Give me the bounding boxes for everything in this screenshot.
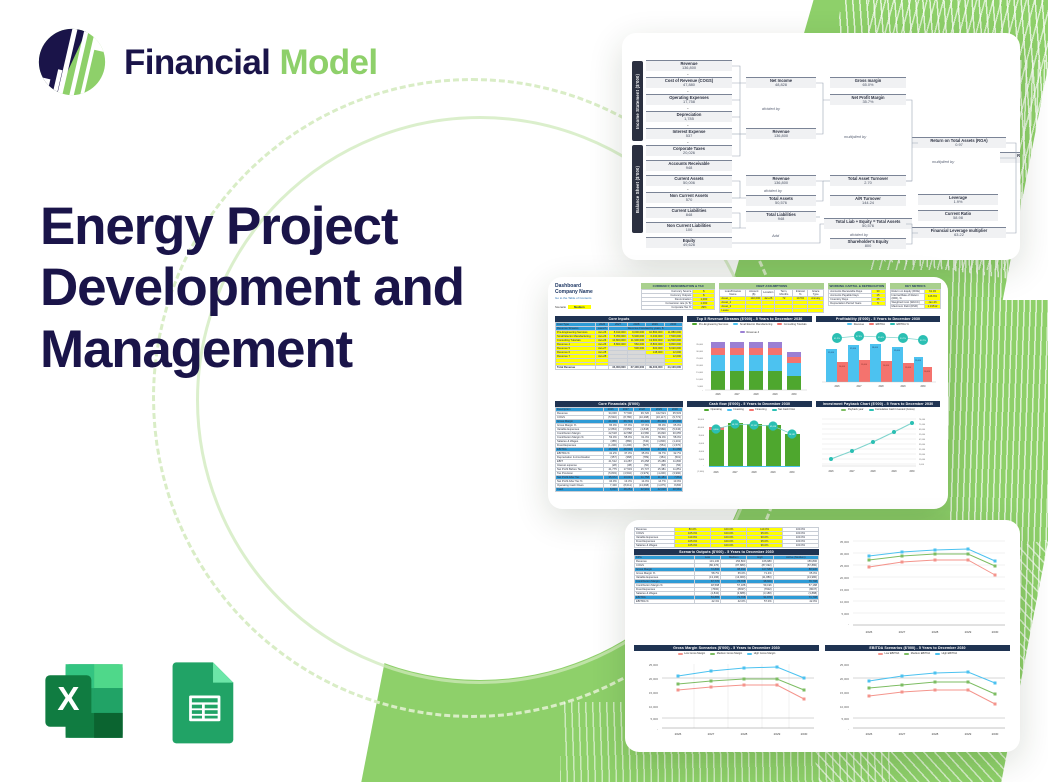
svg-text:-: - [657,727,658,731]
dashboard-header: Dashboard Company Name Go to the Table o… [555,283,941,313]
table-row: Cash8,80048,25132,90142,01848,581 [556,488,683,492]
svg-text:2028: 2028 [878,386,884,388]
svg-text:5,000: 5,000 [841,612,849,616]
svg-text:1,000: 1,000 [919,464,925,466]
svg-text:2029: 2029 [891,471,897,473]
scenario-row-bottom: Gross Margin Scenarios ($'000) - 5 Years… [634,645,1011,741]
svg-text:25,000: 25,000 [840,564,850,568]
legend-item: Revenue 4 [740,331,759,334]
svg-text:30,000: 30,000 [696,351,703,353]
svg-text:2030: 2030 [791,394,797,396]
svg-text:X: X [57,681,79,718]
svg-text:5,000: 5,000 [841,717,849,721]
svg-text:4,000: 4,000 [699,451,705,453]
svg-text:35.0%: 35.0% [878,337,884,339]
dashboard-row-2: Core Financials ($'000) Description20262… [555,401,941,492]
legend-item: EBITDA % [890,323,909,326]
legend-item: Cumulative Cash Invested (Gross) [869,408,915,411]
dashboard-row-1: Core Inputs Cost Type 2026 2027 2028 202… [555,316,941,398]
svg-text:30,000: 30,000 [840,552,850,556]
scenario-label: Scenario [555,305,566,309]
table-header-row: Loan/Finance Name Amount ($) Location Te… [720,289,824,296]
left-content-panel: Financial Model Energy Project Developme… [0,0,500,782]
svg-text:2026: 2026 [866,630,873,634]
brand-name-part1: Financial [124,43,270,82]
legend-item: Medium EBITDA [904,652,930,655]
legend-item: Low Gross Margin [678,652,706,655]
svg-text:2028: 2028 [741,732,748,736]
pie-chart-circle-logo-icon [36,26,108,98]
legend-item: EBITDA [869,323,885,326]
legend-item: Operating [704,408,722,411]
svg-text:2026: 2026 [675,732,682,736]
svg-text:2030: 2030 [992,732,999,736]
svg-text:-: - [702,390,703,392]
svg-text:2030: 2030 [789,472,795,474]
scenario-inputs-block: Revenue80.0%100.0%110.0%100.0% COGS105.0… [634,527,819,641]
svg-text:2026: 2026 [866,732,873,736]
svg-text:8,000: 8,000 [699,435,705,437]
svg-text:2028: 2028 [753,394,759,396]
svg-text:15,000: 15,000 [840,588,850,592]
brand-logo: Financial Model [36,26,378,98]
svg-text:2030: 2030 [920,386,926,388]
svg-text:74,000: 74,000 [919,419,926,421]
legend-item: Low EBITDA [878,652,899,655]
svg-text:25,000: 25,000 [696,358,703,360]
svg-text:(2,000): (2,000) [697,471,704,473]
svg-text:28,581: 28,581 [789,434,796,436]
svg-text:25,000: 25,000 [915,360,921,362]
table-row: Accounts Payable Days15 [829,293,885,297]
svg-text:2030: 2030 [992,630,999,634]
legend-item: Net Cash Flow [772,408,796,411]
svg-text:2030: 2030 [909,471,915,473]
screenshot-card-scenario-outputs[interactable]: Revenue80.0%100.0%110.0%100.0% COGS105.0… [625,520,1020,752]
dupont-connectors [622,33,1020,260]
svg-text:2029: 2029 [770,472,776,474]
page-title: Energy Project Development and Managemen… [40,196,470,380]
svg-text:2029: 2029 [774,732,781,736]
legend-item: Consulting Tutorials [777,323,806,326]
svg-text:31,000: 31,000 [828,352,834,354]
svg-text:31,000: 31,000 [919,449,926,451]
svg-text:71,000: 71,000 [919,424,926,426]
core-financials-block: Core Financials ($'000) Description20262… [555,401,683,492]
screenshot-card-dupont-diagram[interactable]: Income Statement ($'000) Balance Sheet (… [622,33,1020,260]
svg-text:15,000: 15,000 [919,459,926,461]
svg-text:-: - [848,727,849,731]
table-total-row: Total Revenue 34,000,000 27,400,000 39,4… [556,366,683,370]
svg-text:2029: 2029 [900,386,906,388]
table-row: Salaries & Wages105.0%100.0%96.0%100.0% [635,544,819,548]
revenue-scenarios-chart: 35,00030,00025,000 20,00015,00010,000 5,… [825,531,1010,636]
ebitda-scenarios-chart: 25,00020,00015,000 10,0005,000- 20262027… [825,656,1010,736]
profitability-chart-block: Profitability ($'000) - 5 Years to Decem… [816,316,940,398]
revenue-streams-chart: 35,00030,000 25,00020,000 15,00010,000 5… [687,335,812,397]
svg-text:5,000: 5,000 [650,717,658,721]
legend-item: High EBITDA [935,652,957,655]
ebitda-scenarios-block: EBITDA Scenarios ($'000) - 5 Years to De… [825,645,1010,741]
table-row: Depreciation Period Years5 [829,301,885,305]
svg-text:2028: 2028 [751,472,757,474]
scenario-screenshot: Revenue80.0%100.0%110.0%100.0% COGS105.0… [625,520,1020,752]
svg-text:10,000: 10,000 [698,419,705,421]
working-capital-panel: WORKING CAPITAL & DEPRECIATION Accounts … [828,283,885,306]
svg-text:2026: 2026 [834,386,840,388]
legend-item: High Gross Margin [747,652,775,655]
cash-flow-chart-block: Cash flow ($'000) - 5 Years to December … [687,401,812,492]
svg-text:37.3%: 37.3% [856,336,862,338]
svg-text:32.7%: 32.7% [920,340,926,342]
svg-text:42,018: 42,018 [770,426,777,428]
svg-text:-: - [703,465,704,467]
table-row: Weighted Cost (WACC)Jan-26 [890,300,941,304]
brand-name: Financial Model [124,45,378,80]
svg-text:2,000: 2,000 [699,459,705,461]
legend-item: Revenue [847,323,864,326]
svg-text:10,000: 10,000 [696,379,703,381]
svg-text:47,000: 47,000 [919,439,926,441]
metrics-table: Return on Equity (ROE)61.03 Internal Rat… [890,289,942,309]
dashboard-title-block: Dashboard Company Name Go to the Table o… [555,283,637,309]
svg-text:2027: 2027 [732,472,738,474]
scenario-value[interactable]: Medium [568,305,591,309]
svg-text:25,000: 25,000 [840,663,850,667]
svg-text:2027: 2027 [849,471,855,473]
svg-text:2027: 2027 [708,732,715,736]
table-row: Corporate Tax %29% [642,305,715,309]
legend-item: Financing [749,408,767,411]
currency-panel: CURRENCY, DENOMINATION & TAX Currency So… [641,283,715,310]
dashboard-screenshot: Dashboard Company Name Go to the Table o… [548,277,948,509]
revenue-streams-legend: Pre-Engineering Services Small Electro M… [687,322,812,335]
svg-text:32,901: 32,901 [751,425,758,427]
svg-text:2027: 2027 [899,630,906,634]
svg-text:13,000: 13,000 [905,367,911,369]
svg-text:48,251: 48,251 [732,424,739,426]
svg-text:35,000: 35,000 [840,540,850,544]
screenshot-card-dashboard[interactable]: Dashboard Company Name Go to the Table o… [548,277,948,509]
svg-text:14,000: 14,000 [839,366,845,368]
cash-flow-chart: 10,00040,0008,000 6,0004,0002,000 -(2,00… [687,412,812,475]
svg-text:2027: 2027 [856,386,862,388]
legend-item: Investing [727,408,744,411]
svg-text:14,000: 14,000 [883,365,889,367]
scenario-outputs-table: KPIsLowMediumHighActive (Medium)Revenue1… [634,555,819,604]
svg-text:-: - [848,622,849,626]
svg-text:39,000: 39,000 [919,444,926,446]
svg-text:6,000: 6,000 [699,443,705,445]
revenue-scenarios-chart-block: 35,00030,00025,000 20,00015,00010,000 5,… [825,527,1010,641]
scenario-input-table: Revenue80.0%100.0%110.0%100.0% COGS105.0… [634,527,819,548]
key-metrics-panel: KEY METRICS Return on Equity (ROE)61.03 … [890,283,942,309]
legend-item: Payback year [841,408,863,411]
svg-text:2029: 2029 [965,732,972,736]
svg-text:15,000: 15,000 [861,364,867,366]
svg-text:2026: 2026 [828,471,834,473]
svg-text:2027: 2027 [899,732,906,736]
svg-text:20,000: 20,000 [696,365,703,367]
svg-text:20,000: 20,000 [649,677,659,681]
svg-text:41.2%: 41.2% [834,338,840,340]
svg-text:10,000: 10,000 [840,705,850,709]
svg-text:33.7%: 33.7% [900,338,906,340]
svg-text:10,000: 10,000 [840,600,850,604]
svg-text:2027: 2027 [734,394,740,396]
legend-item: Pre-Engineering Services [692,323,728,326]
svg-text:2026: 2026 [713,472,719,474]
currency-table: Currency Source$ Currency Outputs$ Denom… [641,289,715,310]
svg-text:2028: 2028 [870,471,876,473]
svg-text:40,000: 40,000 [698,427,705,429]
scenario-selector[interactable]: Scenario Medium [555,305,637,309]
svg-text:35,000: 35,000 [894,350,900,352]
revenue-streams-chart-block: Top 5 Revenue Streams ($'000) - 5 Years … [687,316,812,398]
svg-text:15,000: 15,000 [696,372,703,374]
table-row: EBITDA %42.1%42.0%57.0%42.0% [635,600,819,604]
svg-text:8,800: 8,800 [713,429,719,431]
legend-item: Small Electro Manufacturing [733,323,772,326]
svg-text:2029: 2029 [772,394,778,396]
google-sheets-icon [156,655,248,747]
svg-text:20,000: 20,000 [840,576,850,580]
svg-text:15,000: 15,000 [840,691,850,695]
table-row: Return on Equity (ROE)61.03 [890,289,941,293]
svg-text:25,000: 25,000 [649,663,659,667]
svg-text:5,000: 5,000 [698,386,704,388]
svg-text:63,000: 63,000 [919,429,926,431]
core-inputs-block: Core Inputs Cost Type 2026 2027 2028 202… [555,316,683,398]
table-row: Lease [720,308,824,312]
wc-panel-header: WORKING CAPITAL & DEPRECIATION [828,283,885,289]
svg-text:55,000: 55,000 [919,434,926,436]
scenario-row-top: Revenue80.0%100.0%110.0%100.0% COGS105.0… [634,527,1011,641]
gross-margin-scenarios-block: Gross Margin Scenarios ($'000) - 5 Years… [634,645,819,741]
brand-name-part2: Model [279,43,377,82]
debt-table: Loan/Finance Name Amount ($) Location Te… [719,289,824,313]
svg-text:10,000: 10,000 [924,371,930,373]
table-row: Accounts Receivable Days30 [829,289,885,293]
svg-text:23,000: 23,000 [919,454,926,456]
app-icons-row: X [38,655,248,747]
svg-text:2026: 2026 [715,394,721,396]
svg-text:20,000: 20,000 [840,677,850,681]
microsoft-excel-icon: X [38,655,130,747]
dashboard-toc-link[interactable]: Go to the Table of Contents [555,296,637,300]
svg-text:2030: 2030 [801,732,808,736]
svg-text:37,000: 37,000 [850,348,856,350]
table-row: Maximum Debt (DSR)1.19512 [890,304,941,308]
svg-text:2028: 2028 [932,732,939,736]
profitability-chart: 41.2% 37.3% 35.0% 33.7% 32.7% 31,000 37,… [816,327,940,389]
dupont-diagram: Income Statement ($'000) Balance Sheet (… [622,33,1020,260]
debt-panel: DEBT ASSUMPTIONS Loan/Finance Name Amoun… [719,283,824,313]
gross-margin-scenarios-chart: 25,00020,00015,000 10,0005,000- [634,656,819,736]
svg-text:38,000: 38,000 [872,347,878,349]
core-financials-table: Description20262027202820292030Revenue34… [555,407,683,492]
svg-text:35,000: 35,000 [696,344,703,346]
svg-text:10,000: 10,000 [649,705,659,709]
table-row: Internal Rate of Return (IRR), %146.6% [890,293,941,300]
wc-table: Accounts Receivable Days30 Accounts Paya… [828,289,885,306]
core-inputs-table: Cost Type 2026 2027 2028 2029 2030 Reven… [555,322,683,370]
payback-chart: 74,00071,00063,000 55,00047,00039,000 31… [816,412,940,475]
svg-text:2029: 2029 [965,630,972,634]
legend-item: Medium Gross Margin [710,652,742,655]
payback-chart-block: Investment Payback Chart ($'000) - 5 Yea… [816,401,940,492]
svg-text:2028: 2028 [932,630,939,634]
svg-text:15,000: 15,000 [649,691,659,695]
